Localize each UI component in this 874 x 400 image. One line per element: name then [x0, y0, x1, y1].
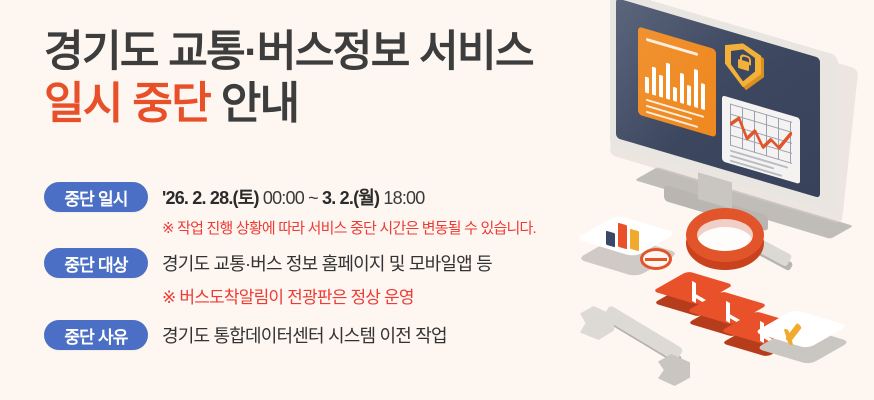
tile-bar-gold	[630, 229, 639, 252]
status-badge-datetime: 중단 일시	[44, 182, 148, 212]
wrench-icon	[574, 300, 704, 390]
line-chart-series	[730, 104, 792, 164]
info-row-target-text: 경기도 교통·버스 정보 홈페이지 및 모바일앱 등	[162, 250, 492, 276]
checkmark-tile-icon	[774, 306, 852, 370]
info-note-datetime: ※ 작업 진행 상황에 따라 서비스 중단 시간은 변동될 수 있습니다.	[162, 217, 644, 238]
datetime-start-date: '26. 2. 28.(토)	[162, 188, 259, 208]
no-entry-bar	[645, 258, 667, 261]
bar-chart-bars	[645, 50, 709, 111]
no-entry-icon	[640, 248, 674, 274]
datetime-start-time: 00:00 ~	[259, 188, 322, 208]
orange-bar-chart-panel-icon	[638, 26, 716, 137]
info-row-datetime-text: '26. 2. 28.(토) 00:00 ~ 3. 2.(월) 18:00	[162, 184, 424, 210]
shield-back	[728, 41, 764, 96]
lock-shackle	[740, 53, 751, 65]
info-row-main: 중단 사유 경기도 통합데이터센터 시스템 이전 작업	[44, 320, 644, 350]
datetime-end-time: 18:00	[379, 188, 424, 208]
status-badge-target: 중단 대상	[44, 248, 148, 278]
clock-hand-vertical	[726, 301, 730, 323]
magnifier-glass	[697, 219, 753, 251]
tile-bar-orange	[618, 223, 627, 250]
info-row-main: 중단 일시 '26. 2. 28.(토) 00:00 ~ 3. 2.(월) 18…	[44, 182, 644, 212]
illustration	[574, 0, 874, 400]
page-title-line2: 일시 중단 안내	[44, 78, 644, 130]
info-row-target: 중단 대상 경기도 교통·버스 정보 홈페이지 및 모바일앱 등 ※ 버스도착알…	[44, 248, 644, 308]
info-row-main: 중단 대상 경기도 교통·버스 정보 홈페이지 및 모바일앱 등	[44, 248, 644, 278]
title-block: 경기도 교통·버스정보 서비스 일시 중단 안내	[44, 28, 644, 130]
line-chart-grid	[730, 104, 792, 164]
info-note-target: ※ 버스도착알림이 전광판은 정상 운영	[162, 283, 644, 308]
desktop-monitor-icon	[602, 18, 852, 203]
shield-lock-icon	[724, 38, 766, 100]
wrench-head-bottom	[658, 354, 690, 386]
page-title-line1: 경기도 교통·버스정보 서비스	[44, 28, 644, 76]
shield-front	[725, 38, 761, 93]
status-badge-reason: 중단 사유	[44, 320, 148, 350]
shield-inner	[731, 46, 755, 85]
lock-body	[738, 59, 749, 71]
title-accent-text: 일시 중단	[44, 79, 210, 128]
tile-bar-navy	[606, 231, 615, 248]
notice-banner: 경기도 교통·버스정보 서비스 일시 중단 안내 중단 일시 '26. 2. 2…	[0, 0, 874, 400]
line-chart-panel-icon	[722, 95, 800, 184]
datetime-end-date: 3. 2.(월)	[322, 188, 379, 208]
info-list: 중단 일시 '26. 2. 28.(토) 00:00 ~ 3. 2.(월) 18…	[44, 182, 644, 354]
info-row-datetime: 중단 일시 '26. 2. 28.(토) 00:00 ~ 3. 2.(월) 18…	[44, 182, 644, 238]
info-row-reason: 중단 사유 경기도 통합데이터센터 시스템 이전 작업	[44, 320, 644, 350]
info-row-reason-text: 경기도 통합데이터센터 시스템 이전 작업	[162, 322, 447, 348]
title-rest-text: 안내	[210, 79, 298, 128]
wrench-shaft	[602, 305, 683, 362]
